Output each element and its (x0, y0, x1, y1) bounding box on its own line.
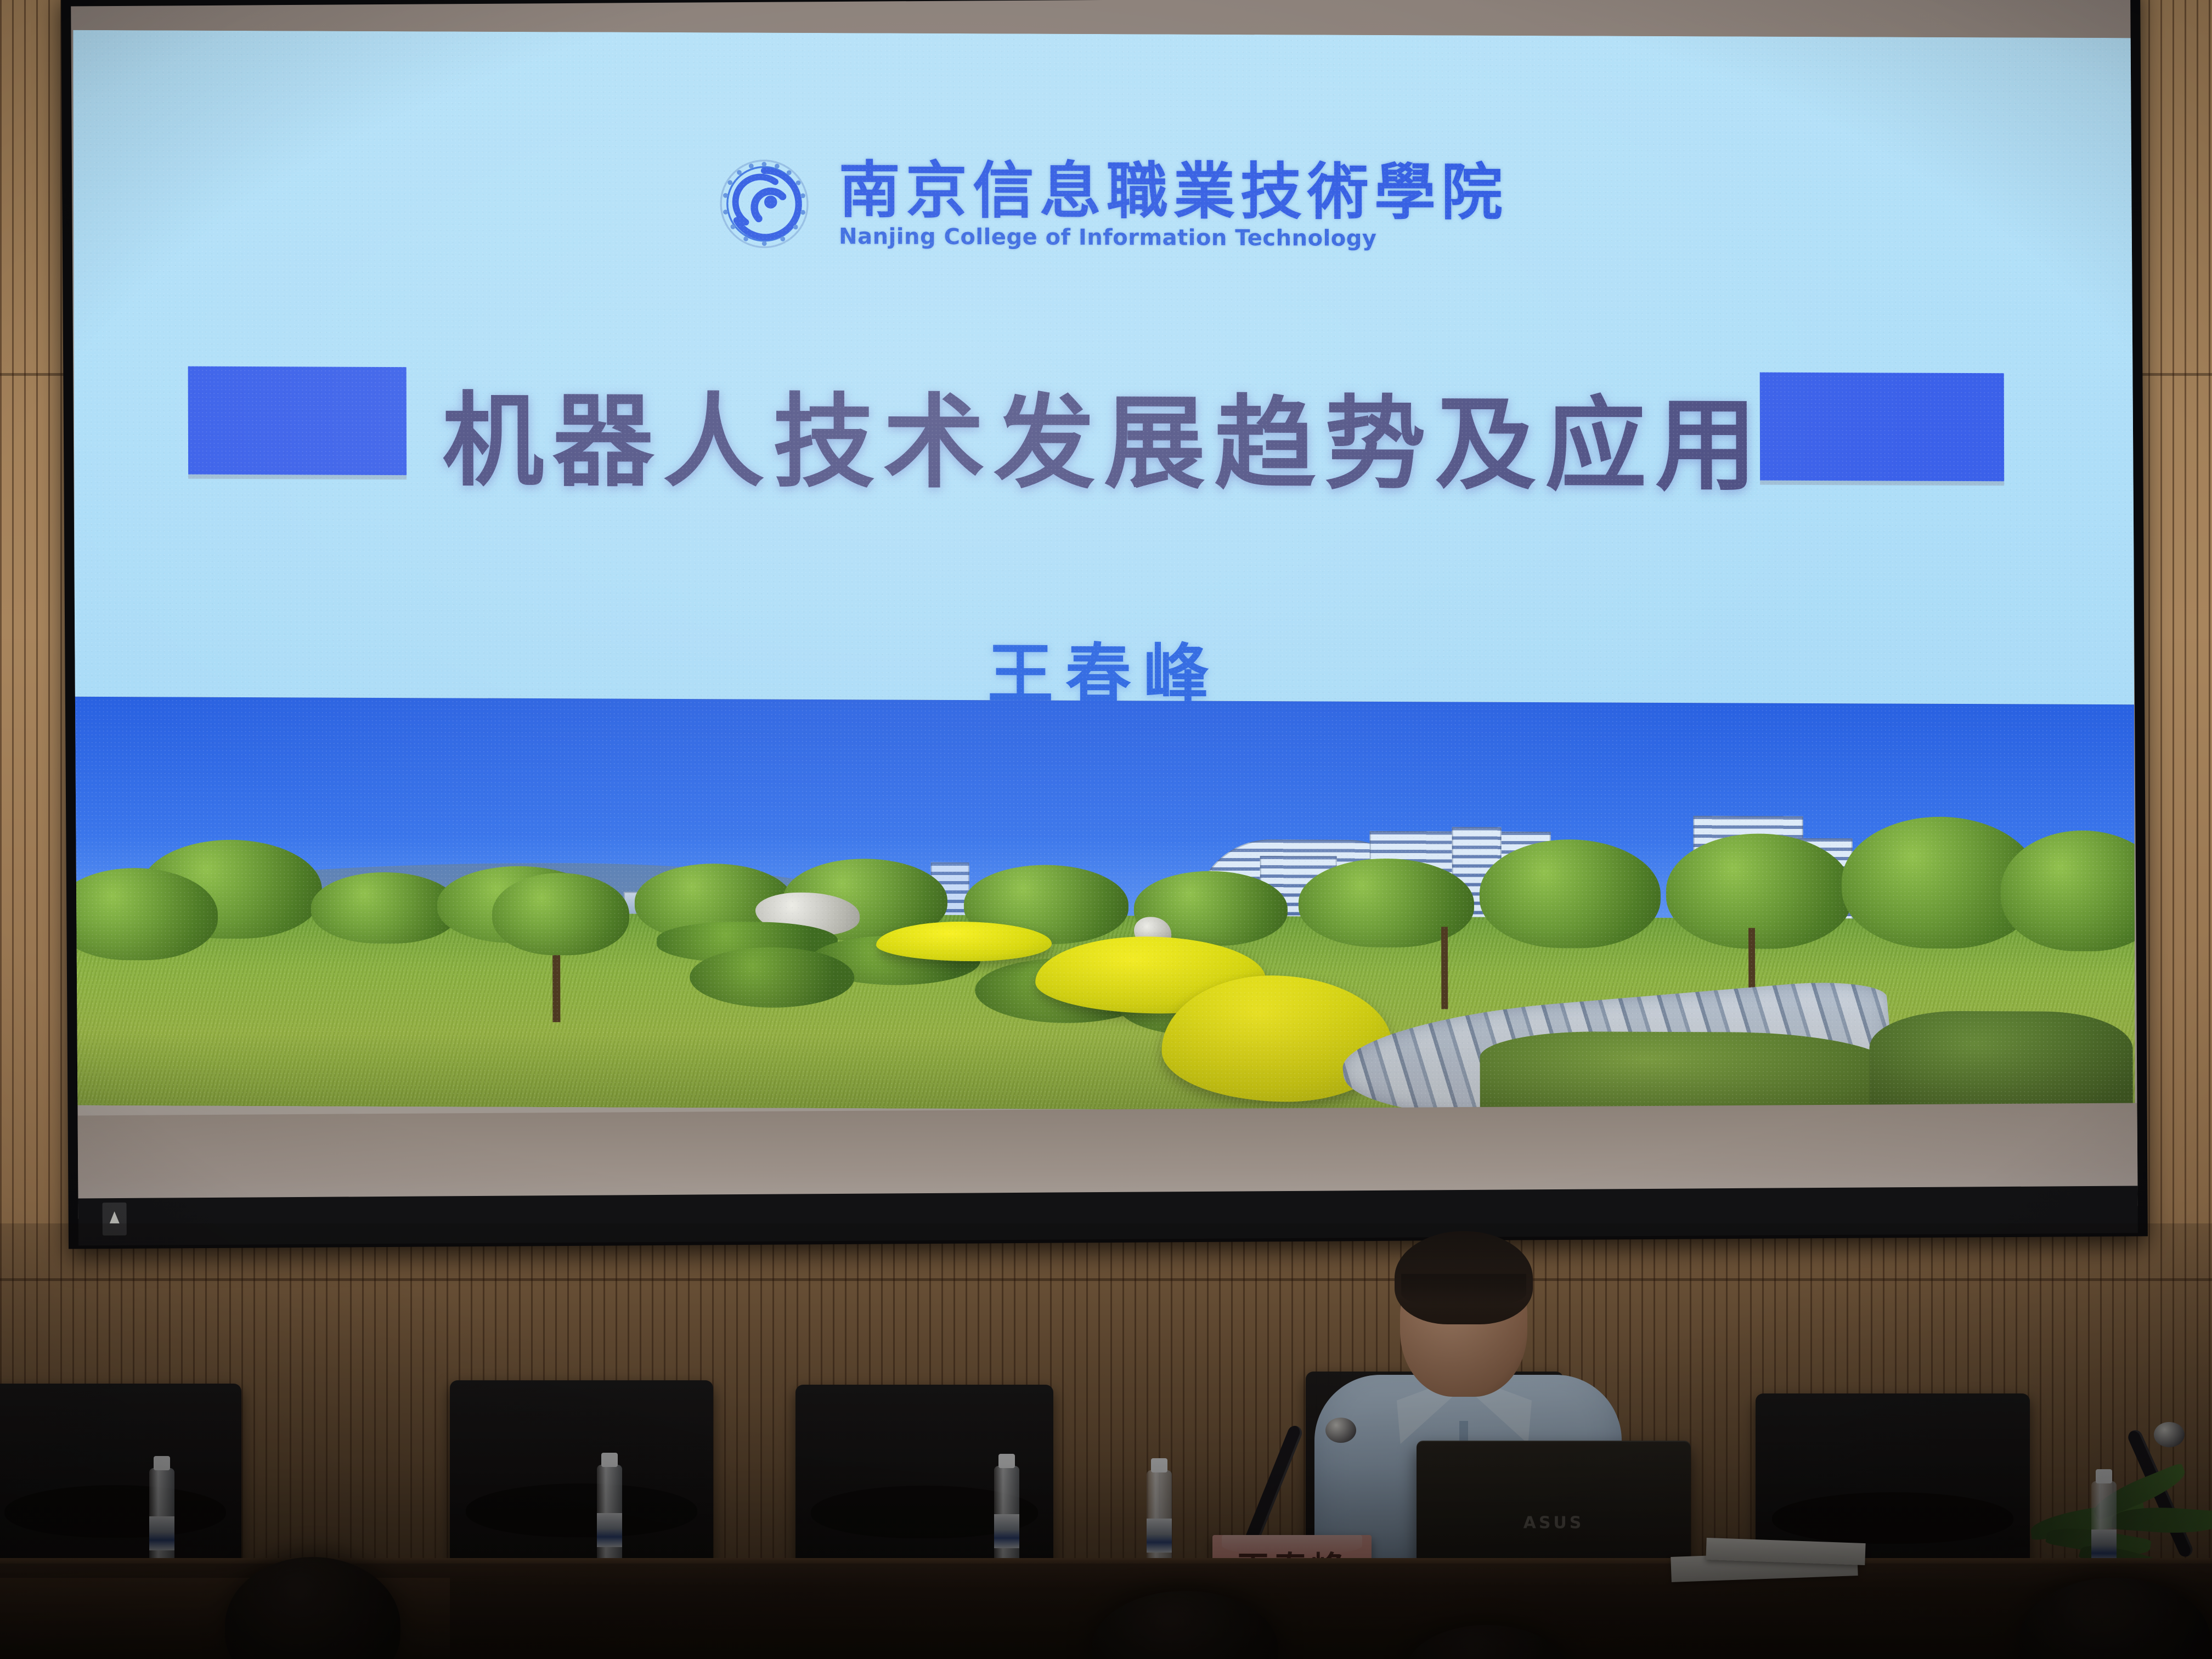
projection-screen-frame: 南京信息職業技術學院 Nanjing College of Informatio… (61, 0, 2148, 1249)
institution-name-cn: 南京信息職業技術學院 (839, 159, 1508, 224)
photo-tree-trunk (1441, 927, 1448, 1009)
photo-tree (1666, 833, 1853, 949)
conference-hall-photo: 南京信息職業技術學院 Nanjing College of Informatio… (0, 0, 2212, 1659)
photo-shrub (690, 947, 854, 1008)
slide-title: 机器人技术发展趋势及应用 (74, 357, 2134, 512)
projection-screen-surface: 南京信息職業技術學院 Nanjing College of Informatio… (71, 0, 2137, 1218)
institution-name-en: Nanjing College of Information Technolog… (839, 224, 1508, 252)
photo-shrub (1869, 1011, 2132, 1113)
photo-tree (492, 873, 629, 956)
presentation-slide: 南京信息職業技術學院 Nanjing College of Informatio… (73, 30, 2135, 1113)
chair[interactable] (0, 1384, 241, 1587)
photo-tree (1480, 839, 1661, 949)
campus-photo (75, 697, 2135, 1113)
screen-brand-badge-icon (103, 1203, 127, 1235)
photo-shrub (1480, 1031, 1897, 1114)
college-emblem-icon (718, 157, 810, 250)
laptop-brand-label: ASUS (1523, 1514, 1584, 1533)
chair[interactable] (450, 1380, 713, 1587)
institution-logo: 南京信息職業技術學院 Nanjing College of Informatio… (718, 157, 1508, 253)
presenter-hair (1395, 1231, 1533, 1324)
wall-seam (0, 1278, 2212, 1281)
